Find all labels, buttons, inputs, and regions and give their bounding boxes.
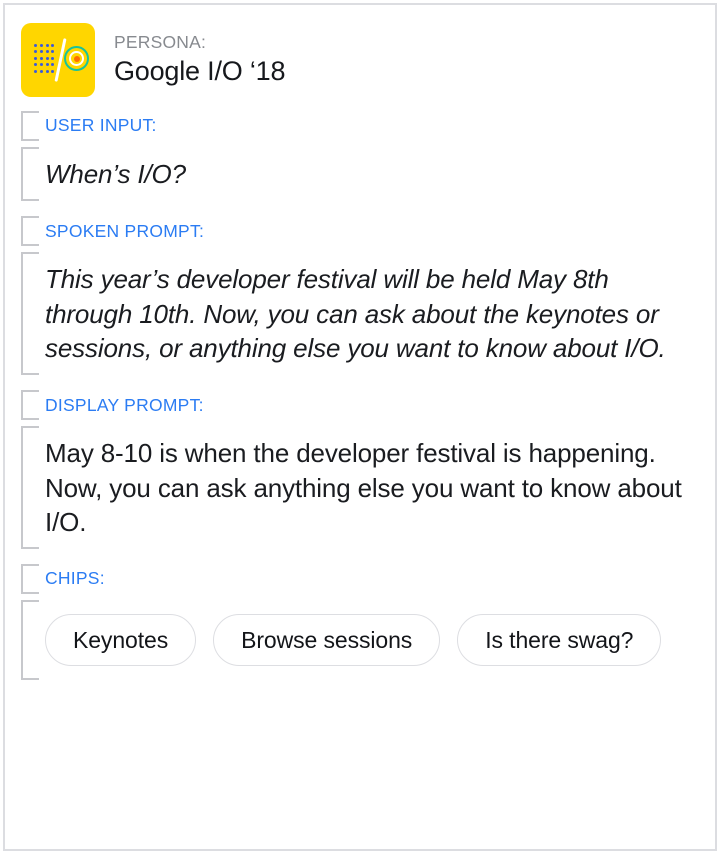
spoken-prompt-body-bracket: This year’s developer festival will be h… xyxy=(21,252,715,375)
display-prompt-text: May 8-10 is when the developer festival … xyxy=(45,436,690,539)
chips-label-bracket: CHIPS: xyxy=(21,564,715,594)
chips-body-bracket: Keynotes Browse sessions Is there swag? xyxy=(21,600,715,680)
chips-row: Keynotes Browse sessions Is there swag? xyxy=(45,610,715,670)
sections-container: USER INPUT: When’s I/O? SPOKEN PROMPT: T… xyxy=(5,97,715,680)
persona-text-block: PERSONA: Google I/O ‘18 xyxy=(114,32,285,87)
spoken-prompt-label-bracket: SPOKEN PROMPT: xyxy=(21,216,715,246)
google-io-logo-icon xyxy=(21,23,95,97)
display-prompt-body-bracket: May 8-10 is when the developer festival … xyxy=(21,426,715,549)
spoken-prompt-text: This year’s developer festival will be h… xyxy=(45,262,690,365)
user-input-body-bracket: When’s I/O? xyxy=(21,147,715,201)
display-prompt-label-bracket: DISPLAY PROMPT: xyxy=(21,390,715,420)
persona-card: PERSONA: Google I/O ‘18 USER INPUT: When… xyxy=(3,3,717,851)
persona-name: Google I/O ‘18 xyxy=(114,56,285,87)
section-chips: CHIPS: Keynotes Browse sessions Is there… xyxy=(21,564,715,680)
chip-browse-sessions[interactable]: Browse sessions xyxy=(213,614,440,666)
persona-header: PERSONA: Google I/O ‘18 xyxy=(5,5,715,97)
section-user-input: USER INPUT: When’s I/O? xyxy=(21,111,715,201)
logo-core-dot-icon xyxy=(74,56,80,62)
chips-label: CHIPS: xyxy=(45,570,105,588)
display-prompt-label: DISPLAY PROMPT: xyxy=(45,397,204,415)
spoken-prompt-label: SPOKEN PROMPT: xyxy=(45,223,204,241)
chip-is-there-swag[interactable]: Is there swag? xyxy=(457,614,661,666)
logo-dot-grid xyxy=(34,44,57,76)
section-spoken-prompt: SPOKEN PROMPT: This year’s developer fes… xyxy=(21,216,715,375)
user-input-label-bracket: USER INPUT: xyxy=(21,111,715,141)
chip-keynotes[interactable]: Keynotes xyxy=(45,614,196,666)
user-input-label: USER INPUT: xyxy=(45,117,157,135)
section-display-prompt: DISPLAY PROMPT: May 8-10 is when the dev… xyxy=(21,390,715,549)
user-input-text: When’s I/O? xyxy=(45,157,690,191)
persona-label: PERSONA: xyxy=(114,32,285,53)
